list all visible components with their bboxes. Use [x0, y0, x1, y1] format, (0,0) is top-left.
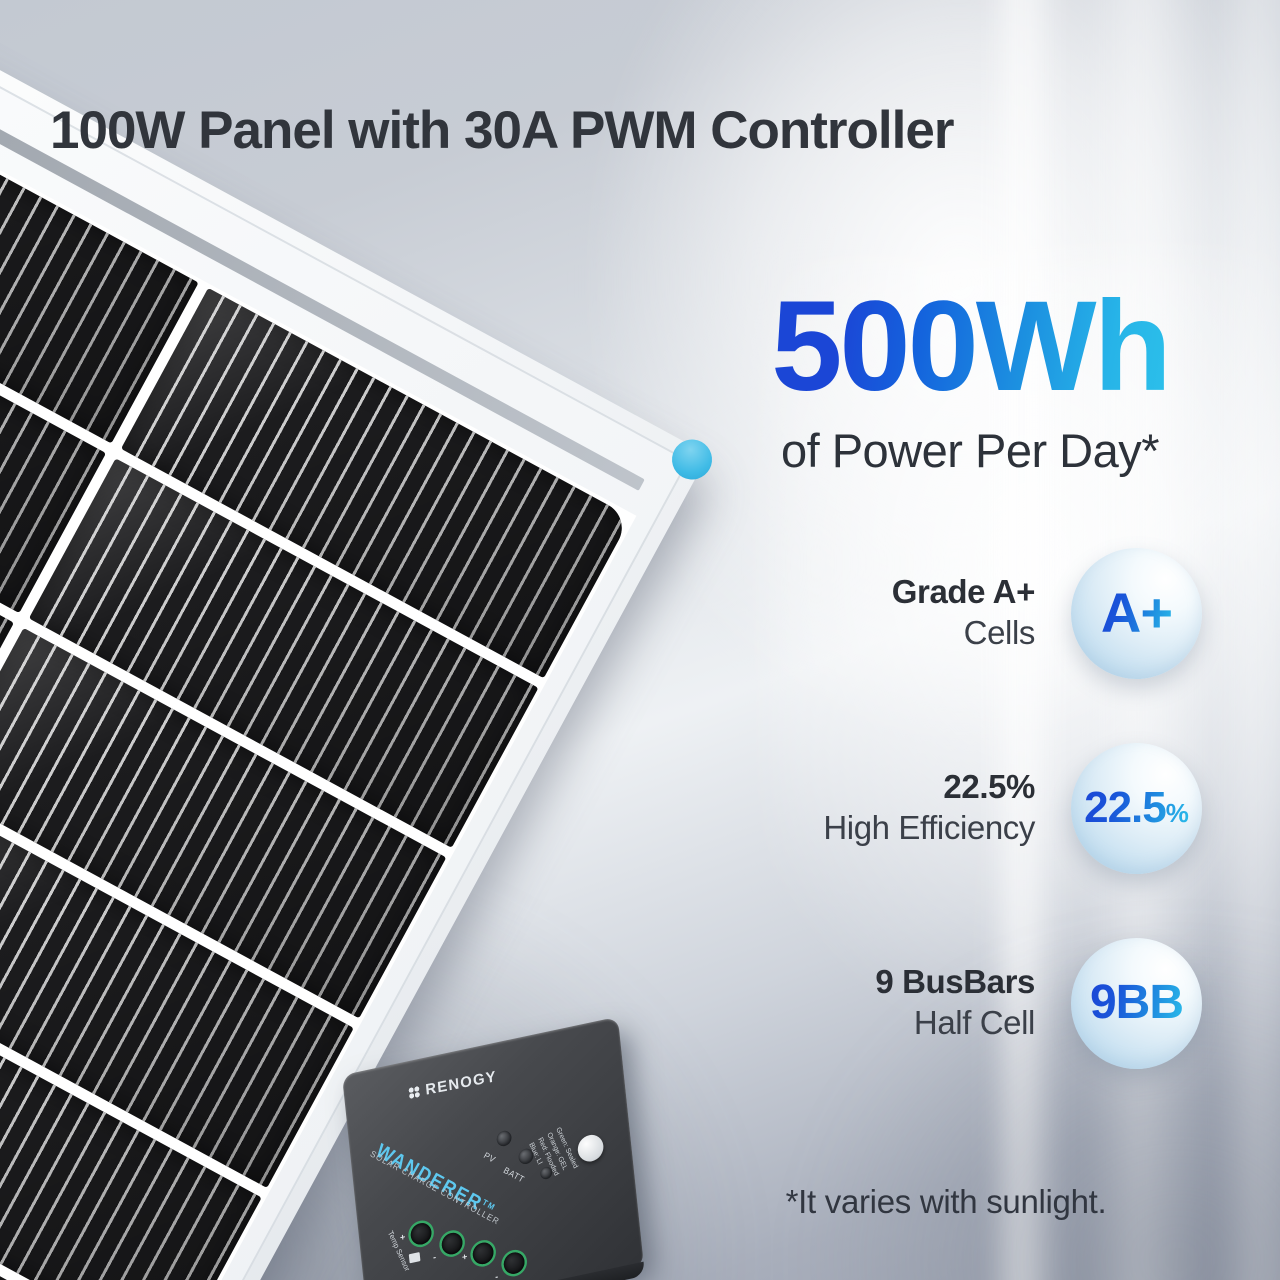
controller-terminal-3 [472, 1241, 495, 1266]
feature-title: 9 BusBars [875, 964, 1035, 1001]
controller-port-pv [496, 1129, 512, 1147]
controller-terminal-1-sign: + [399, 1232, 405, 1243]
feature-text: 22.5% High Efficiency [823, 769, 1071, 847]
badge-value: 22.5 [1084, 783, 1166, 832]
controller-terminal-4 [503, 1250, 526, 1275]
controller-port-batt-label: BATT [502, 1165, 527, 1185]
hero-subtitle: of Power Per Day* [700, 423, 1240, 478]
page-title: 100W Panel with 30A PWM Controller [50, 100, 953, 161]
hero-value: 500Wh [771, 283, 1169, 411]
feature-title: 22.5% [823, 769, 1035, 806]
hero-block: 500Wh of Power Per Day* [700, 283, 1240, 478]
feature-subtitle: Half Cell [875, 1005, 1035, 1042]
controller-brand-logo: RENOGY [407, 1068, 497, 1102]
feature-item-grade-a-plus: Grade A+ Cells A+ [690, 548, 1202, 678]
controller-model-subtitle: SOLAR CHARGE CONTROLLER [368, 1148, 501, 1226]
badge-value-wrap: 22.5% [1084, 786, 1189, 830]
feature-item-efficiency: 22.5% High Efficiency 22.5% [690, 743, 1202, 873]
feature-title: Grade A+ [892, 574, 1035, 611]
controller-temp-sensor-label: Temp Sensor [385, 1229, 412, 1274]
feature-subtitle: Cells [892, 615, 1035, 652]
controller-terminal-4-sign: - [495, 1271, 499, 1280]
product-hero-image: RENOGY [0, 0, 1280, 1280]
controller-terminal-2 [441, 1231, 464, 1256]
feature-item-busbars: 9 BusBars Half Cell 9BB [690, 938, 1202, 1068]
badge-value: A+ [1101, 585, 1172, 641]
feature-badge-grade-a-plus: A+ [1071, 548, 1202, 679]
footnote-disclaimer: *It varies with sunlight. [690, 1183, 1202, 1221]
feature-list: Grade A+ Cells A+ 22.5% High Efficiency … [690, 548, 1202, 1068]
feature-subtitle: High Efficiency [823, 810, 1035, 847]
controller-brand-label: RENOGY [425, 1068, 498, 1099]
feature-text: 9 BusBars Half Cell [875, 964, 1071, 1042]
controller-terminal-icon [409, 1252, 421, 1263]
badge-value: 9BB [1090, 979, 1183, 1027]
feature-text: Grade A+ Cells [892, 574, 1071, 652]
controller-port-pv-label: PV [482, 1150, 498, 1165]
controller-battery-legend: Green: SealedOrange: GELRed: FloodedBlue… [525, 1126, 580, 1187]
feature-badge-busbars: 9BB [1071, 938, 1202, 1069]
controller-terminal-2-sign: - [433, 1252, 437, 1263]
controller-terminal-1 [410, 1221, 433, 1246]
badge-value-suffix: % [1166, 798, 1189, 828]
feature-badge-efficiency: 22.5% [1071, 743, 1202, 874]
renogy-logo-icon [407, 1085, 421, 1101]
controller-terminal-3-sign: + [462, 1251, 468, 1262]
controller-mode-button[interactable] [577, 1133, 605, 1164]
